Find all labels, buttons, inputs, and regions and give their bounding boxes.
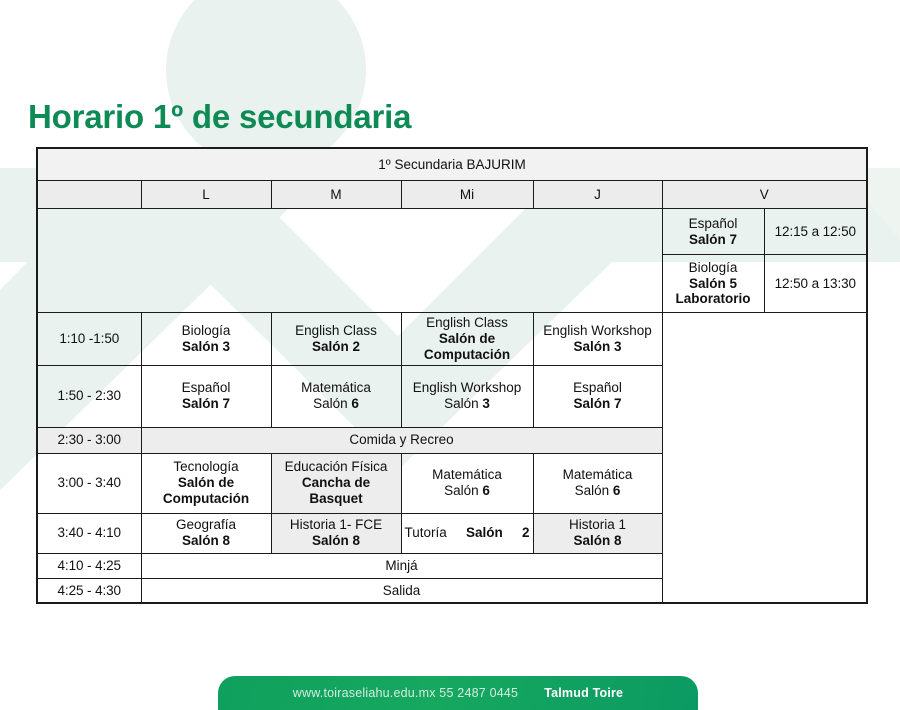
class-cell: Tutoría Salón 2: [401, 513, 533, 553]
class-cell: English WorkshopSalón 3: [401, 365, 533, 427]
schedule-body: 1:10 -1:50BiologíaSalón 3English ClassSa…: [37, 313, 867, 604]
table-caption: 1º Secundaria BAJURIM: [37, 148, 867, 181]
class-room: Salón de Computación: [145, 475, 268, 507]
class-subject: Español: [145, 380, 268, 396]
friday-time-cell-2: 12:50 a 13:30: [764, 255, 867, 313]
class-cell: BiologíaSalón 3: [141, 313, 271, 366]
day-header-miercoles: Mi: [401, 181, 533, 209]
time-slot-cell: 3:00 - 3:40: [37, 453, 141, 513]
full-width-activity-cell: Minjá: [141, 553, 662, 578]
table-day-header-row: L M Mi J V: [37, 181, 867, 209]
class-room: Salón 7: [145, 396, 268, 412]
class-subject: English Workshop: [405, 380, 530, 396]
time-slot-cell: 4:10 - 4:25: [37, 553, 141, 578]
full-width-activity-cell: Comida y Recreo: [141, 427, 662, 453]
day-header-viernes: V: [662, 181, 867, 209]
friday-room-extra-2: Laboratorio: [666, 291, 761, 307]
friday-empty-cell: [662, 313, 867, 604]
class-subject: Biología: [145, 323, 268, 339]
table-caption-row: 1º Secundaria BAJURIM: [37, 148, 867, 181]
class-cell: EspañolSalón 7: [533, 365, 662, 427]
class-room-number: 3: [482, 396, 490, 411]
friday-block-row-1: Español Salón 7 12:15 a 12:50: [37, 209, 867, 255]
class-subject: Español: [537, 380, 659, 396]
day-header-martes: M: [271, 181, 401, 209]
class-cell: MatemáticaSalón 6: [533, 453, 662, 513]
friday-room-2: Salón 5: [666, 276, 761, 292]
empty-merged-cell: [37, 209, 662, 313]
class-cell: GeografíaSalón 8: [141, 513, 271, 553]
class-cell: MatemáticaSalón 6: [401, 453, 533, 513]
class-room: Salón 2: [275, 339, 398, 355]
class-subject: English Class: [275, 323, 398, 339]
class-subject: Matemática: [537, 467, 659, 483]
full-width-activity-cell: Salida: [141, 578, 662, 603]
schedule-table: 1º Secundaria BAJURIM L M Mi J V Español…: [36, 147, 868, 604]
time-slot-cell: 3:40 - 4:10: [37, 513, 141, 553]
time-slot-cell: 4:25 - 4:30: [37, 578, 141, 603]
class-room-number: 6: [613, 483, 621, 498]
class-cell: Historia 1- FCESalón 8: [271, 513, 401, 553]
class-room: Salón 6: [537, 483, 659, 499]
class-subject: Geografía: [145, 517, 268, 533]
class-room: Salón 6: [405, 483, 530, 499]
class-cell: EspañolSalón 7: [141, 365, 271, 427]
page-title: Horario 1º de secundaria: [28, 98, 411, 136]
day-header-lunes: L: [141, 181, 271, 209]
class-subject: Tecnología: [145, 459, 268, 475]
background-circle-shape: [166, 0, 366, 170]
time-slot-cell: 1:50 - 2:30: [37, 365, 141, 427]
friday-class-cell-2: Biología Salón 5 Laboratorio: [662, 255, 764, 313]
class-room-number: 6: [482, 483, 490, 498]
footer-contact-text: www.toiraseliahu.edu.mx 55 2487 0445: [293, 686, 518, 700]
class-room: Salón 7: [537, 396, 659, 412]
time-slot-cell: 1:10 -1:50: [37, 313, 141, 366]
class-room: Salón 2: [466, 525, 529, 540]
class-cell: Historia 1Salón 8: [533, 513, 662, 553]
class-room-number: 6: [351, 396, 359, 411]
class-cell: English ClassSalón de Computación: [401, 313, 533, 366]
friday-subject-2: Biología: [666, 260, 761, 276]
class-cell: Educación FísicaCancha de Basquet: [271, 453, 401, 513]
class-room: Salón 8: [537, 533, 659, 549]
friday-room-1: Salón 7: [666, 232, 761, 248]
schedule-table-container: 1º Secundaria BAJURIM L M Mi J V Español…: [36, 147, 866, 604]
class-room: Salón 3: [145, 339, 268, 355]
class-subject: Educación Física: [275, 459, 398, 475]
class-subject: English Workshop: [537, 323, 659, 339]
class-room: Salón de Computación: [405, 331, 530, 363]
class-room: Salón 3: [405, 396, 530, 412]
table-row: 1:10 -1:50BiologíaSalón 3English ClassSa…: [37, 313, 867, 366]
class-subject: Matemática: [275, 380, 398, 396]
time-slot-cell: 2:30 - 3:00: [37, 427, 141, 453]
footer-bar: www.toiraseliahu.edu.mx 55 2487 0445 Tal…: [218, 676, 698, 710]
class-subject: Historia 1- FCE: [275, 517, 398, 533]
class-cell: English ClassSalón 2: [271, 313, 401, 366]
class-cell: English WorkshopSalón 3: [533, 313, 662, 366]
class-room: Salón 8: [145, 533, 268, 549]
class-subject: Matemática: [405, 467, 530, 483]
class-room: Cancha de Basquet: [275, 475, 398, 507]
class-subject: English Class: [405, 315, 530, 331]
class-room: Salón 3: [537, 339, 659, 355]
friday-subject-1: Español: [666, 216, 761, 232]
header-corner-cell: [37, 181, 141, 209]
friday-class-cell-1: Español Salón 7: [662, 209, 764, 255]
footer-brand-name: Talmud Toire: [544, 686, 623, 700]
class-cell: MatemáticaSalón 6: [271, 365, 401, 427]
class-subject: Tutoría: [405, 525, 447, 540]
class-subject: Historia 1: [537, 517, 659, 533]
class-cell: TecnologíaSalón de Computación: [141, 453, 271, 513]
class-room: Salón 6: [275, 396, 398, 412]
class-room: Salón 8: [275, 533, 398, 549]
friday-time-cell-1: 12:15 a 12:50: [764, 209, 867, 255]
day-header-jueves: J: [533, 181, 662, 209]
